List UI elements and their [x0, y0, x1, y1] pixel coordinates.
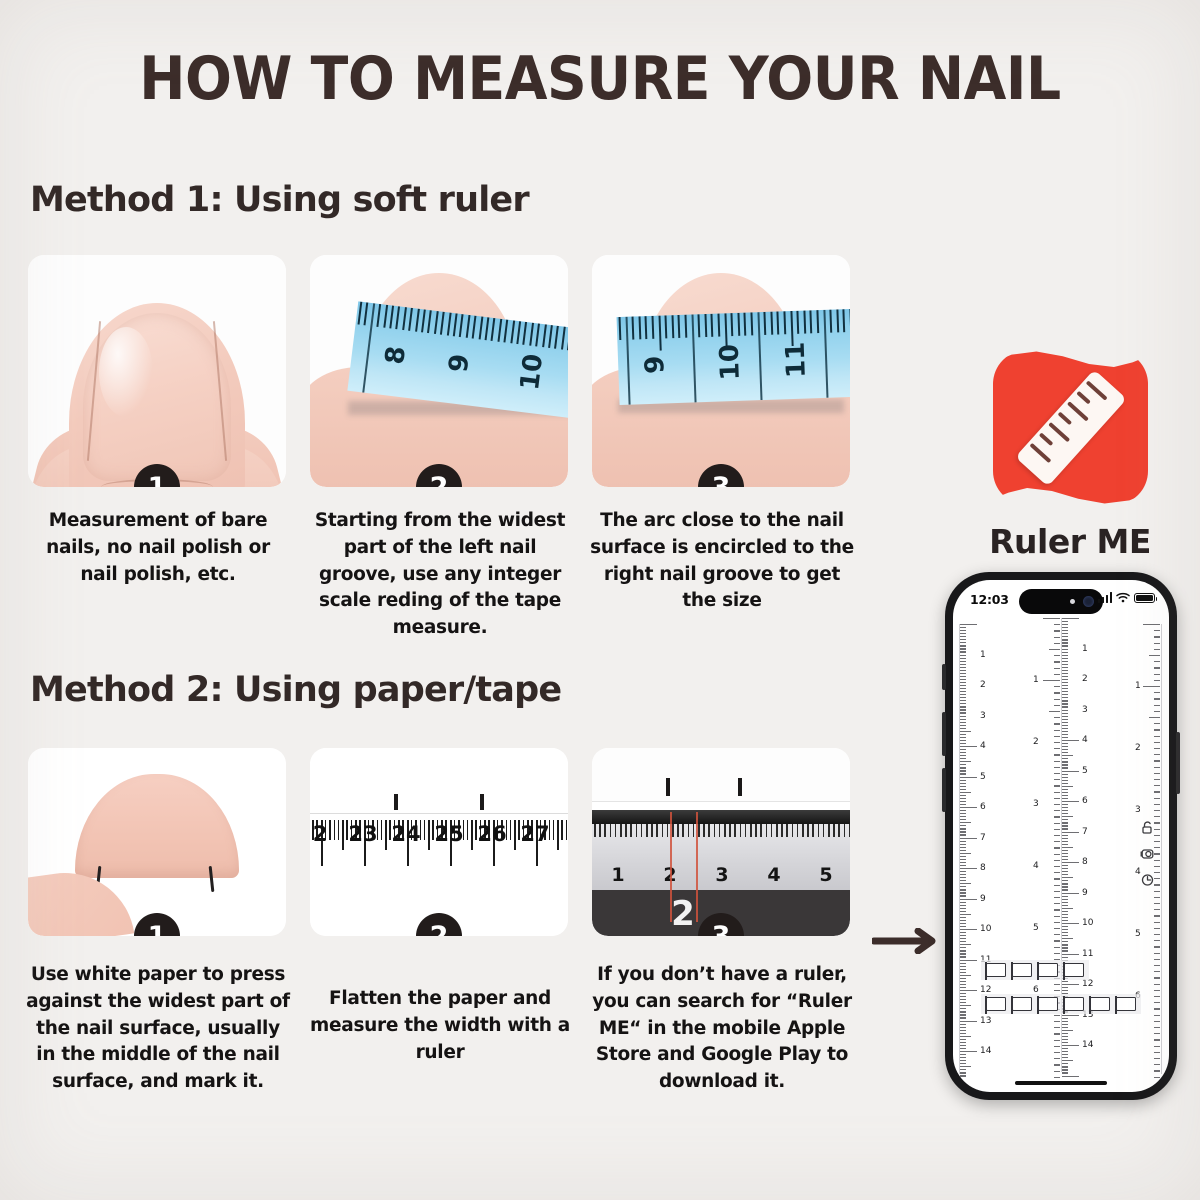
- ruler-tick: [714, 824, 716, 837]
- tape-tick: [485, 317, 490, 340]
- tape-tick: [671, 315, 674, 338]
- ruler-tick: [1154, 996, 1160, 997]
- tape-tick: [658, 316, 661, 351]
- ruler-tick: [1154, 810, 1160, 811]
- ruler-tick: [1154, 680, 1160, 681]
- tape-tick: [731, 313, 734, 336]
- metal-ruler-photo: 12345 2: [592, 748, 850, 936]
- ruler-tick: [610, 824, 612, 837]
- tape-tick: [744, 313, 747, 336]
- caption-m1-step3: The arc close to the nail surface is enc…: [588, 508, 856, 615]
- ruler-tick: [385, 820, 387, 850]
- ruler-hatch: [1076, 390, 1091, 404]
- ruler-tick: [1154, 643, 1160, 644]
- ruler-tick: [1154, 959, 1160, 960]
- ruler-red-guide: [670, 812, 672, 922]
- ruler-tick: [1154, 1052, 1160, 1053]
- ruler-tick: [1154, 903, 1160, 904]
- tape-tick: [542, 324, 547, 347]
- tape-tick: [421, 309, 426, 332]
- tape-tick: [377, 304, 382, 327]
- measure-widget[interactable]: [1038, 997, 1058, 1011]
- ruler-tick: [828, 824, 830, 837]
- tape-tick: [472, 316, 477, 339]
- measure-widget[interactable]: [1064, 963, 1084, 977]
- ruler-tick: [1154, 1015, 1160, 1016]
- tape-tick: [816, 310, 819, 333]
- ruler-number: 5: [819, 864, 832, 886]
- tape-tick: [797, 311, 800, 334]
- ruler-tick: [1154, 667, 1160, 668]
- ruler-tick: [1149, 717, 1160, 718]
- tape-tick: [459, 314, 464, 337]
- ruler-tick: [599, 824, 601, 837]
- tape-tick: [427, 310, 432, 333]
- ruler-number: 23: [348, 822, 377, 846]
- ruler-tick: [1154, 977, 1160, 978]
- ruler-tick: [667, 824, 669, 837]
- tape-tick: [777, 311, 780, 334]
- ruler-tick: [786, 824, 788, 837]
- ruler-number: 3: [715, 864, 728, 886]
- tape-measure-left-photo: 8910: [310, 255, 568, 487]
- ruler-tick: [1154, 779, 1160, 780]
- ruler-tick: [381, 820, 383, 840]
- ruler-tick: [1154, 1070, 1160, 1071]
- app-name-label: Ruler ME: [940, 522, 1200, 561]
- ruler-tick: [1154, 748, 1160, 749]
- paper-illustration: [28, 748, 286, 936]
- tape-tick: [757, 312, 762, 400]
- measure-widget[interactable]: [1116, 997, 1136, 1011]
- hand-with-tape-illustration: 8910: [310, 255, 568, 487]
- ruler-tick: [838, 824, 840, 837]
- ruler-tick: [1154, 1027, 1160, 1028]
- photo-card-m2-step3: 12345 2 3: [592, 748, 850, 936]
- tape-measure-right-photo: 91011: [592, 255, 850, 487]
- tape-tick: [497, 319, 502, 342]
- ruler-tick: [1154, 946, 1160, 947]
- ruler-tick: [424, 820, 426, 840]
- ruler-tick: [1154, 1002, 1160, 1003]
- ruler-dark-number: 2: [671, 894, 695, 934]
- pencil-mark-right: [480, 794, 484, 810]
- measure-widget-row[interactable]: [981, 960, 1089, 980]
- home-indicator[interactable]: [1015, 1081, 1107, 1085]
- ruler-hatch: [1048, 421, 1070, 441]
- ruler-tick: [467, 820, 469, 840]
- ruler-red-guide: [696, 812, 698, 922]
- ruler-tick: [849, 824, 850, 837]
- ruler-tick: [703, 824, 705, 837]
- ruler-tick: [802, 824, 804, 837]
- ruler-hatch: [1085, 380, 1107, 400]
- ruler-tick: [755, 824, 757, 837]
- tape-tick: [836, 309, 839, 332]
- tape-tick: [434, 311, 439, 334]
- ruler-tick: [625, 824, 627, 837]
- caption-m2-step2: Flatten the paper and measure the width …: [308, 986, 572, 1066]
- ruler-tick: [342, 820, 344, 850]
- ruler-tick: [1154, 705, 1160, 706]
- tape-tick: [364, 302, 369, 325]
- ruler-tick: [677, 824, 679, 837]
- metal-ruler-illustration: 12345 2: [592, 748, 850, 936]
- ruler-tick: [760, 824, 762, 837]
- tape-tick: [684, 315, 687, 338]
- tape-tick: [645, 316, 648, 339]
- ruler-tick: [636, 824, 638, 837]
- ruler-tick: [1154, 934, 1160, 935]
- tape-tick: [803, 311, 806, 334]
- ruler-tick: [1154, 760, 1160, 761]
- tape-tick: [402, 307, 407, 330]
- phone-power-button[interactable]: [1176, 732, 1180, 794]
- ruler-tick: [807, 824, 809, 837]
- finger-illustration: [28, 255, 286, 487]
- tape-tick: [440, 312, 445, 335]
- tape-measure-strip: 91011: [617, 309, 850, 405]
- ruler-tick: [651, 824, 653, 837]
- ruler-tick: [1154, 791, 1160, 792]
- phone-volume-down-button[interactable]: [942, 768, 946, 812]
- measure-widget-row[interactable]: [981, 994, 1141, 1014]
- bare-nail-photo: [28, 255, 286, 487]
- ruler-tick: [656, 824, 658, 837]
- tape-tick: [383, 305, 388, 328]
- ruler-tick: [1154, 990, 1160, 991]
- photo-card-m2-step2: 22324252627 2: [310, 748, 568, 936]
- caption-m1-step2: Starting from the widest part of the lef…: [308, 508, 572, 642]
- ruler-tick: [1154, 767, 1160, 768]
- tape-tick: [823, 310, 828, 398]
- tape-tick: [619, 317, 622, 340]
- photo-card-m1-step3: 91011 3: [592, 255, 850, 487]
- tape-tick: [453, 313, 458, 336]
- photo-card-m1-step1: 1: [28, 255, 286, 487]
- ruler-tick: [1154, 630, 1160, 631]
- measure-widget[interactable]: [1064, 997, 1084, 1011]
- tape-tick: [691, 314, 696, 402]
- ruler-tick: [833, 824, 835, 837]
- ruler-tick: [1154, 841, 1160, 842]
- ruler-tick: [1154, 785, 1160, 786]
- vertical-ruler-scale: 123456: [953, 580, 1169, 1092]
- ruler-tick: [708, 824, 710, 837]
- phone-mockup: 12:03 1234567891011121314123456123456789…: [945, 572, 1177, 1100]
- ruler-tick: [766, 824, 768, 837]
- ruler-tick: [812, 824, 814, 837]
- ruler-tick: [510, 820, 512, 840]
- tape-tick: [770, 312, 773, 335]
- ruler-tick: [776, 824, 778, 837]
- camera-icon[interactable]: [1140, 846, 1155, 866]
- ruler-tick: [844, 824, 846, 837]
- ruler-tick: [1154, 736, 1160, 737]
- ruler-tick: [1154, 940, 1160, 941]
- ruler-tick: [1154, 1058, 1160, 1059]
- ruler-hatch: [1057, 411, 1072, 425]
- ruler-tick: [641, 824, 643, 837]
- caption-m2-step3: If you don’t have a ruler, you can searc…: [586, 962, 858, 1096]
- flattened-paper: [310, 748, 568, 814]
- tape-tick: [711, 314, 714, 337]
- pencil-mark-left: [394, 794, 398, 810]
- tape-number: 10: [515, 352, 549, 392]
- ruler-tick: [566, 820, 568, 840]
- ruler-tick: [662, 824, 664, 837]
- ruler-tick: [750, 824, 752, 837]
- tape-tick: [523, 322, 528, 345]
- page-title: HOW TO MEASURE YOUR NAIL: [48, 44, 1152, 114]
- nail-tip: [75, 774, 239, 878]
- ruler-tick: [792, 824, 794, 837]
- tape-tick: [698, 314, 701, 337]
- paper-strip: [592, 748, 850, 802]
- tape-tick: [830, 310, 833, 333]
- photo-card-m2-step1: 1: [28, 748, 286, 936]
- hand-with-tape-wrapped-illustration: 91011: [592, 255, 850, 487]
- ruler-number: 27: [520, 822, 549, 846]
- tape-tick: [810, 310, 813, 333]
- phone-volume-up-button[interactable]: [942, 712, 946, 756]
- pencil-mark-left: [666, 778, 670, 796]
- ruler-hatch: [1066, 401, 1088, 421]
- ruler-tick: [1154, 971, 1160, 972]
- ruler-tick: [1143, 624, 1160, 625]
- clock-icon[interactable]: [1140, 872, 1155, 892]
- phone-silence-switch[interactable]: [942, 664, 946, 690]
- ruler-number: 2: [1135, 743, 1141, 753]
- tape-tick: [396, 306, 401, 329]
- ruler-tick: [1154, 965, 1160, 966]
- tape-tick: [357, 302, 362, 325]
- ruler-number: 1: [1135, 681, 1141, 691]
- ruler-tick: [557, 820, 559, 850]
- tape-tick: [737, 313, 740, 336]
- ruler-tick: [823, 824, 825, 837]
- tape-tick: [561, 327, 566, 350]
- ruler-number: 5: [1135, 929, 1141, 939]
- ruler-tick: [1154, 984, 1160, 985]
- ruler-number: 3: [1135, 805, 1141, 815]
- tape-tick: [478, 316, 483, 339]
- ruler-tick: [734, 824, 736, 837]
- tape-tick: [465, 315, 470, 338]
- ruler-number: 4: [767, 864, 780, 886]
- ruler-tick: [719, 824, 721, 837]
- tape-tick: [764, 312, 767, 335]
- ruler-tick: [1143, 686, 1160, 687]
- tape-tick: [849, 309, 850, 332]
- tape-tick: [516, 321, 521, 344]
- measure-widget[interactable]: [1012, 997, 1032, 1011]
- ruler-tick: [771, 824, 773, 837]
- tape-tick: [625, 317, 630, 405]
- tape-number: 9: [640, 355, 671, 374]
- ruler-tick: [615, 824, 617, 837]
- ruler-tick: [745, 824, 747, 837]
- ruler-tick: [428, 820, 430, 850]
- ruler-tick: [1154, 723, 1160, 724]
- ruler-tick: [729, 824, 731, 837]
- tape-tick: [717, 314, 720, 337]
- unlock-icon[interactable]: [1140, 820, 1155, 840]
- ruler-tick: [1154, 1033, 1160, 1034]
- tape-tick: [446, 312, 451, 335]
- tape-tick: [408, 308, 413, 331]
- method-1-heading: Method 1: Using soft ruler: [30, 180, 529, 220]
- ruler-tick: [1154, 661, 1160, 662]
- ruler-tick: [604, 824, 606, 837]
- tape-tick: [704, 314, 707, 337]
- paper-on-nail-photo: [28, 748, 286, 936]
- ruler-tick: [688, 824, 690, 837]
- ruler-hatch: [1038, 432, 1053, 446]
- ruler-number: 26: [477, 822, 506, 846]
- tape-tick: [491, 318, 496, 341]
- ruler-tick: [1154, 742, 1160, 743]
- ruler-tick: [334, 820, 336, 840]
- ruler-tick: [672, 824, 674, 837]
- tape-tick: [535, 323, 540, 346]
- ruler-tick: [561, 820, 563, 840]
- tape-tick: [529, 323, 534, 346]
- measure-widget[interactable]: [1038, 963, 1058, 977]
- tape-tick: [548, 325, 553, 348]
- ruler-number: 1: [611, 864, 624, 886]
- ruler-tick: [1154, 915, 1160, 916]
- ruler-tick: [1154, 804, 1160, 805]
- tape-tick: [510, 320, 515, 343]
- ruler-tick: [630, 824, 632, 837]
- tape-tick: [504, 320, 509, 343]
- tape-number: 11: [780, 341, 811, 378]
- caption-m2-step1: Use white paper to press against the wid…: [26, 962, 290, 1096]
- measure-widget[interactable]: [1012, 963, 1032, 977]
- ruler-hatch: [1029, 442, 1051, 462]
- ruler-tick: [329, 820, 331, 840]
- ruler-tick: [1154, 773, 1160, 774]
- ruler-number: 2: [313, 822, 328, 846]
- ruler-tick: [1154, 909, 1160, 910]
- ruler-tick: [1154, 692, 1160, 693]
- tape-tick: [638, 316, 641, 339]
- ruler-tick: [1154, 674, 1160, 675]
- ruler-tick: [1154, 922, 1160, 923]
- tape-tick: [678, 315, 681, 338]
- ruler-body: 12345: [592, 824, 850, 890]
- tape-tick: [843, 309, 846, 332]
- ruler-tick: [1154, 1021, 1160, 1022]
- tape-tick: [415, 309, 420, 332]
- tape-tick: [750, 312, 753, 335]
- pencil-mark-right: [738, 778, 742, 796]
- ruler-tick: [338, 820, 340, 840]
- ruler-tick: [781, 824, 783, 837]
- ruler-tick: [1154, 754, 1160, 755]
- ruler-tick: [1154, 636, 1160, 637]
- ruler-tick: [698, 824, 700, 837]
- tape-tick: [632, 317, 635, 340]
- tape-tick: [389, 305, 394, 328]
- ruler-tick: [1154, 1064, 1160, 1065]
- ruler-number: 25: [434, 822, 463, 846]
- ruler-tick: [1154, 1008, 1160, 1009]
- phone-screen[interactable]: 12:03 1234567891011121314123456123456789…: [953, 580, 1169, 1092]
- measure-widget[interactable]: [986, 963, 1006, 977]
- ruler-tick: [514, 820, 516, 850]
- ruler-tick: [1154, 649, 1160, 650]
- tape-tick: [783, 311, 786, 334]
- arrow-right-icon: [872, 928, 950, 954]
- ruler-tick: [693, 824, 695, 837]
- ruler-tick: [1154, 953, 1160, 954]
- ruler-tick: [471, 820, 473, 850]
- ruler-tick: [1154, 729, 1160, 730]
- nail-highlight: [99, 327, 153, 417]
- ruler-tick: [1149, 655, 1160, 656]
- measure-widget[interactable]: [986, 997, 1006, 1011]
- ruler-tick: [1154, 1077, 1160, 1078]
- ruler-tick: [594, 824, 596, 837]
- ruler-edge: [592, 810, 850, 824]
- ruler-tick: [646, 824, 648, 837]
- tape-number: 9: [444, 352, 476, 374]
- caption-m1-step1: Measurement of bare nails, no nail polis…: [26, 508, 290, 588]
- ruler-tick: [1154, 816, 1160, 817]
- ruler-tick: [1154, 1039, 1160, 1040]
- tape-number: 10: [714, 344, 745, 381]
- ruler-tick: [1154, 897, 1160, 898]
- measure-widget[interactable]: [1090, 997, 1110, 1011]
- ruler-tick: [682, 824, 684, 837]
- ruler-tick: [740, 824, 742, 837]
- ruler-tick: [1154, 711, 1160, 712]
- ruler-tick: [797, 824, 799, 837]
- photo-card-m1-step2: 8910 2: [310, 255, 568, 487]
- ruler-tick: [818, 824, 820, 837]
- ruler-app-icon[interactable]: [993, 350, 1148, 505]
- ruler-tick: [1154, 1046, 1160, 1047]
- paper-ruler-illustration: 22324252627: [310, 748, 568, 936]
- tape-tick: [554, 326, 559, 349]
- ruler-tick: [724, 824, 726, 837]
- tape-tick: [567, 327, 568, 350]
- ruler-number: 24: [391, 822, 420, 846]
- ruler-tick: [620, 824, 622, 837]
- ruler-tick: [1154, 798, 1160, 799]
- ruler-tick: [1154, 698, 1160, 699]
- method-2-heading: Method 2: Using paper/tape: [30, 670, 561, 710]
- tape-tick: [652, 316, 655, 339]
- ruler-tick: [553, 820, 555, 840]
- tape-number: 8: [380, 345, 412, 367]
- tape-tick: [665, 315, 668, 338]
- paper-ruler-photo: 22324252627: [310, 748, 568, 936]
- ruler-tick: [1154, 928, 1160, 929]
